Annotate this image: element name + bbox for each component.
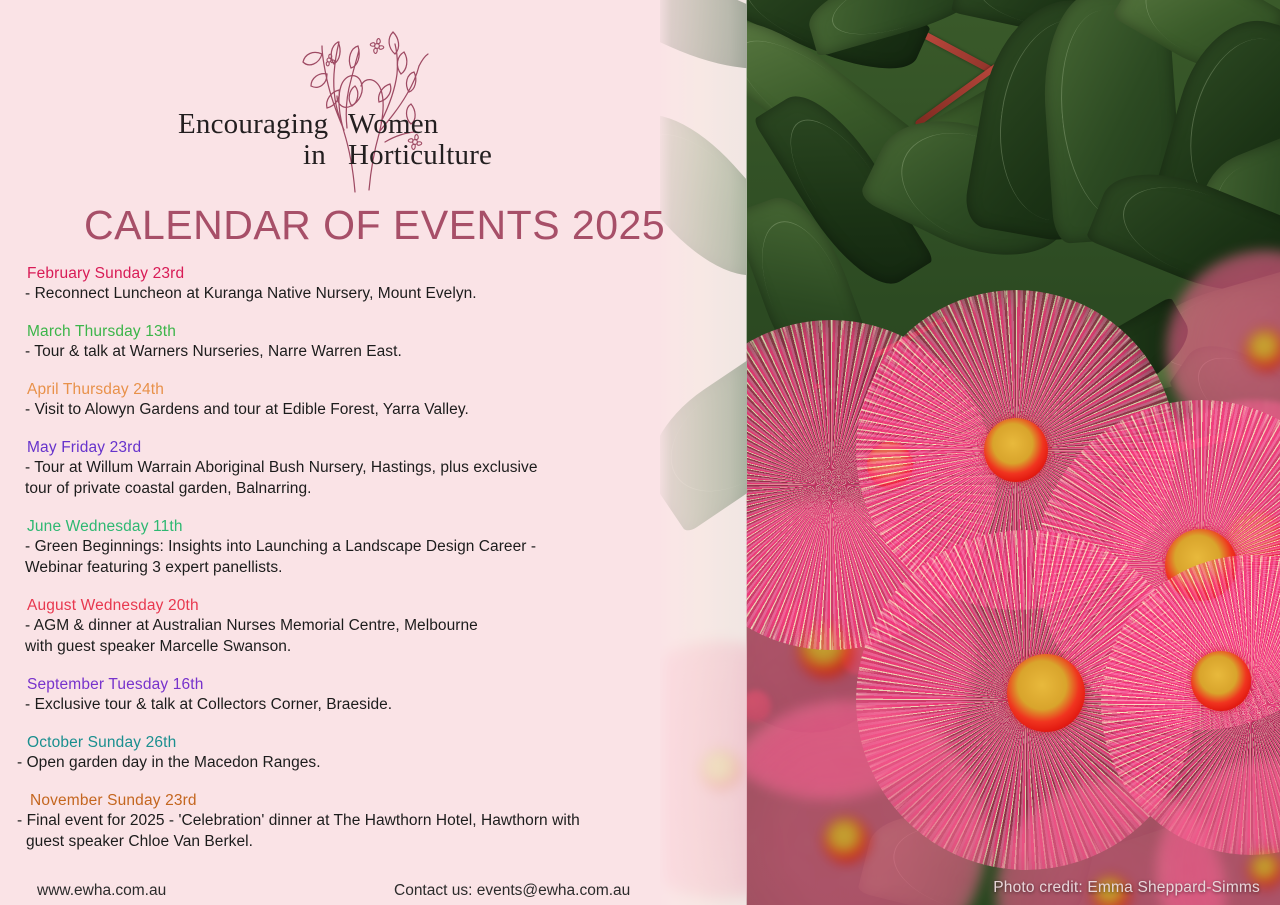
content-panel: Encouraging Women in Horticulture CALEND… xyxy=(0,0,660,905)
event-date: May Friday 23rd xyxy=(0,438,660,457)
event-item: March Thursday 13th- Tour & talk at Warn… xyxy=(0,322,660,362)
brand-line-horticulture: Horticulture xyxy=(348,139,492,172)
event-description: - Final event for 2025 - 'Celebration' d… xyxy=(0,810,660,852)
event-description-line: tour of private coastal garden, Balnarri… xyxy=(25,478,660,499)
event-item: May Friday 23rd- Tour at Willum Warrain … xyxy=(0,438,660,499)
event-item: February Sunday 23rd- Reconnect Luncheon… xyxy=(0,264,660,304)
event-date: August Wednesday 20th xyxy=(0,596,660,615)
event-item: September Tuesday 16th- Exclusive tour &… xyxy=(0,675,660,715)
event-description: - Visit to Alowyn Gardens and tour at Ed… xyxy=(0,399,660,420)
event-date: September Tuesday 16th xyxy=(0,675,660,694)
event-description-line: - Final event for 2025 - 'Celebration' d… xyxy=(17,810,660,831)
event-description: - Tour at Willum Warrain Aboriginal Bush… xyxy=(0,457,660,499)
event-description-line: - Green Beginnings: Insights into Launch… xyxy=(25,536,660,557)
event-description-line: - Visit to Alowyn Gardens and tour at Ed… xyxy=(25,399,660,420)
brand-line-encouraging: Encouraging xyxy=(178,108,328,141)
event-description-line: - Tour & talk at Warners Nurseries, Narr… xyxy=(25,341,660,362)
calendar-poster: Photo credit: Emma Sheppard-Simms xyxy=(0,0,1280,905)
event-description: - Green Beginnings: Insights into Launch… xyxy=(0,536,660,578)
photo-credit: Photo credit: Emma Sheppard-Simms xyxy=(993,879,1260,897)
event-item: April Thursday 24th- Visit to Alowyn Gar… xyxy=(0,380,660,420)
event-description: - Reconnect Luncheon at Kuranga Native N… xyxy=(0,283,660,304)
website-link[interactable]: www.ewha.com.au xyxy=(37,882,166,900)
brand-line-in: in xyxy=(303,139,326,172)
event-description-line: - Exclusive tour & talk at Collectors Co… xyxy=(25,694,660,715)
hero-photo-image xyxy=(746,0,1280,905)
event-description-line: guest speaker Chloe Van Berkel. xyxy=(17,831,660,852)
footer: www.ewha.com.au Contact us: events@ewha.… xyxy=(0,882,660,905)
event-date: October Sunday 26th xyxy=(0,733,660,752)
brand-line-women: Women xyxy=(348,108,438,141)
event-item: August Wednesday 20th- AGM & dinner at A… xyxy=(0,596,660,657)
event-description-line: - Open garden day in the Macedon Ranges. xyxy=(17,752,660,773)
event-description: - Open garden day in the Macedon Ranges. xyxy=(0,752,660,773)
event-item: June Wednesday 11th- Green Beginnings: I… xyxy=(0,517,660,578)
contact-email[interactable]: Contact us: events@ewha.com.au xyxy=(394,882,630,900)
event-date: June Wednesday 11th xyxy=(0,517,660,536)
hero-photo: Photo credit: Emma Sheppard-Simms xyxy=(746,0,1280,905)
events-list: February Sunday 23rd- Reconnect Luncheon… xyxy=(0,264,660,870)
fade-overlay xyxy=(659,0,747,905)
brand-wordmark: Encouraging Women in Horticulture xyxy=(170,108,590,178)
event-description: - AGM & dinner at Australian Nurses Memo… xyxy=(0,615,660,657)
event-date: March Thursday 13th xyxy=(0,322,660,341)
event-date: April Thursday 24th xyxy=(0,380,660,399)
event-description: - Exclusive tour & talk at Collectors Co… xyxy=(0,694,660,715)
page-title: CALENDAR OF EVENTS 2025 xyxy=(84,202,665,249)
event-date: November Sunday 23rd xyxy=(0,791,660,810)
event-description-line: - Reconnect Luncheon at Kuranga Native N… xyxy=(25,283,660,304)
event-date: February Sunday 23rd xyxy=(0,264,660,283)
photo-fade-band xyxy=(659,0,747,905)
event-item: October Sunday 26th- Open garden day in … xyxy=(0,733,660,773)
brand-logo: Encouraging Women in Horticulture xyxy=(0,0,660,190)
event-description-line: - AGM & dinner at Australian Nurses Memo… xyxy=(25,615,660,636)
event-item: November Sunday 23rd- Final event for 20… xyxy=(0,791,660,852)
event-description-line: Webinar featuring 3 expert panellists. xyxy=(25,557,660,578)
event-description-line: - Tour at Willum Warrain Aboriginal Bush… xyxy=(25,457,660,478)
event-description: - Tour & talk at Warners Nurseries, Narr… xyxy=(0,341,660,362)
event-description-line: with guest speaker Marcelle Swanson. xyxy=(25,636,660,657)
